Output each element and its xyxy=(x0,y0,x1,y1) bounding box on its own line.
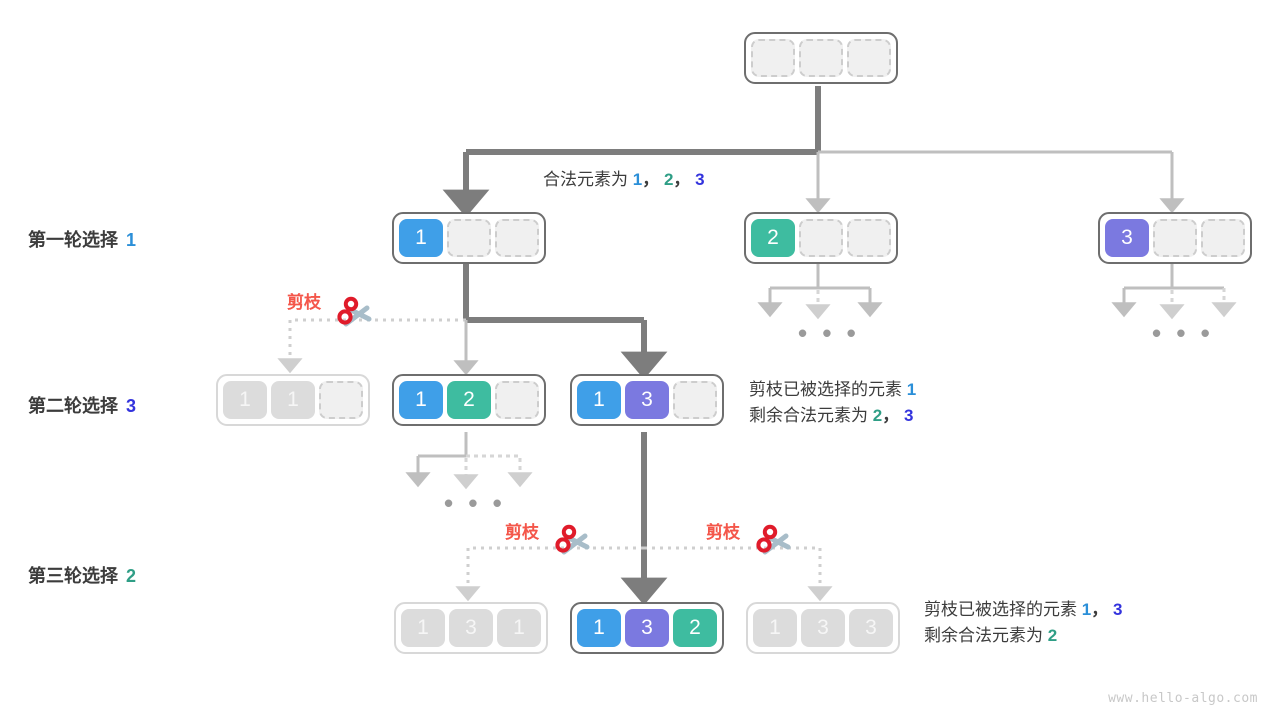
state-r1-b: 2 xyxy=(744,212,898,264)
state-r1-c: 3 xyxy=(1098,212,1252,264)
note-legal-value-3: 3 xyxy=(695,170,704,189)
cell xyxy=(847,39,891,77)
cell: 3 xyxy=(801,609,845,647)
note-row2-line2: 剩余合法元素为 2， 3 xyxy=(749,403,916,429)
round-label-1: 第一轮选择1 xyxy=(28,226,136,252)
round-label-2-value: 3 xyxy=(126,396,136,416)
note-row2: 剪枝已被选择的元素 1 剩余合法元素为 2， 3 xyxy=(749,377,916,429)
state-r1-a: 1 xyxy=(392,212,546,264)
ellipsis-subtree-r2b: • • • xyxy=(444,488,506,519)
state-root xyxy=(744,32,898,84)
cell: 1 xyxy=(401,609,445,647)
cell xyxy=(495,219,539,257)
round-label-1-value: 1 xyxy=(126,230,136,250)
cell xyxy=(447,219,491,257)
note-row2-line1-prefix: 剪枝已被选择的元素 xyxy=(749,380,902,399)
cell: 2 xyxy=(447,381,491,419)
permutation-backtracking-diagram: 1 2 3 1 1 1 2 1 3 1 3 1 1 3 2 1 xyxy=(0,0,1280,720)
round-label-2: 第二轮选择3 xyxy=(28,392,136,418)
round-label-1-text: 第一轮选择 xyxy=(28,230,118,250)
state-r2-b: 1 2 xyxy=(392,374,546,426)
note-row2-line1: 剪枝已被选择的元素 1 xyxy=(749,377,916,403)
cell: 2 xyxy=(751,219,795,257)
note-legal-value-1: 1 xyxy=(633,170,642,189)
cell: 1 xyxy=(497,609,541,647)
note-row2-line2-prefix: 剩余合法元素为 xyxy=(749,406,868,425)
note-row3-line1: 剪枝已被选择的元素 1， 3 xyxy=(924,597,1122,623)
state-r3-a-pruned: 1 3 1 xyxy=(394,602,548,654)
prune-label-3: 剪枝 xyxy=(706,518,740,543)
cell xyxy=(847,219,891,257)
cell: 3 xyxy=(849,609,893,647)
cell xyxy=(673,381,717,419)
cell: 1 xyxy=(271,381,315,419)
scissors-icon xyxy=(547,519,593,565)
cell: 1 xyxy=(577,381,621,419)
note-row3-line2-prefix: 剩余合法元素为 xyxy=(924,626,1043,645)
edge-r1a-stem xyxy=(466,262,644,320)
cell: 1 xyxy=(223,381,267,419)
cell: 2 xyxy=(673,609,717,647)
cell xyxy=(319,381,363,419)
cell: 3 xyxy=(625,381,669,419)
note-row2-line2-sep: ， xyxy=(882,406,899,425)
prune-label-1: 剪枝 xyxy=(287,288,321,313)
round-label-2-text: 第二轮选择 xyxy=(28,396,118,416)
note-row2-line2-value-1: 2 xyxy=(873,406,882,425)
note-row2-line2-value-2: 3 xyxy=(904,406,913,425)
edge-subtree-hint-c xyxy=(1124,262,1224,312)
note-legal-sep-2: ， xyxy=(673,170,690,189)
edge-subtree-hint-r2b xyxy=(418,432,520,482)
cell xyxy=(495,381,539,419)
watermark: www.hello-algo.com xyxy=(1108,691,1258,706)
cell: 3 xyxy=(449,609,493,647)
cell xyxy=(799,39,843,77)
note-row3-line2-value-1: 2 xyxy=(1048,626,1057,645)
note-legal-value-2: 2 xyxy=(664,170,673,189)
cell: 1 xyxy=(753,609,797,647)
note-row3: 剪枝已被选择的元素 1， 3 剩余合法元素为 2 xyxy=(924,597,1122,649)
note-row2-line1-value-1: 1 xyxy=(907,380,916,399)
state-r2-c: 1 3 xyxy=(570,374,724,426)
scissors-icon xyxy=(329,291,375,337)
note-legal-sep-1: ， xyxy=(642,170,659,189)
cell xyxy=(751,39,795,77)
cell xyxy=(1201,219,1245,257)
scissors-icon xyxy=(748,519,794,565)
ellipsis-subtree-c: • • • xyxy=(1152,318,1214,349)
state-r3-b: 1 3 2 xyxy=(570,602,724,654)
note-legal-elements: 合法元素为 1， 2， 3 xyxy=(543,167,705,193)
note-row3-line1-value-2: 3 xyxy=(1113,600,1122,619)
note-legal-prefix: 合法元素为 xyxy=(543,170,628,189)
cell: 1 xyxy=(577,609,621,647)
note-row3-line1-prefix: 剪枝已被选择的元素 xyxy=(924,600,1077,619)
cell: 1 xyxy=(399,381,443,419)
cell xyxy=(1153,219,1197,257)
note-row3-line2: 剩余合法元素为 2 xyxy=(924,623,1122,649)
ellipsis-subtree-b: • • • xyxy=(798,318,860,349)
edge-pruned-r2a xyxy=(290,320,466,366)
cell: 3 xyxy=(625,609,669,647)
cell xyxy=(799,219,843,257)
cell: 3 xyxy=(1105,219,1149,257)
cell: 1 xyxy=(399,219,443,257)
prune-label-2: 剪枝 xyxy=(505,518,539,543)
edge-subtree-hint-b xyxy=(770,262,870,312)
round-label-3-text: 第三轮选择 xyxy=(28,566,118,586)
note-row3-line1-sep: ， xyxy=(1091,600,1108,619)
round-label-3-value: 2 xyxy=(126,566,136,586)
state-r2-a-pruned: 1 1 xyxy=(216,374,370,426)
state-r3-c-pruned: 1 3 3 xyxy=(746,602,900,654)
note-row3-line1-value-1: 1 xyxy=(1082,600,1091,619)
round-label-3: 第三轮选择2 xyxy=(28,562,136,588)
